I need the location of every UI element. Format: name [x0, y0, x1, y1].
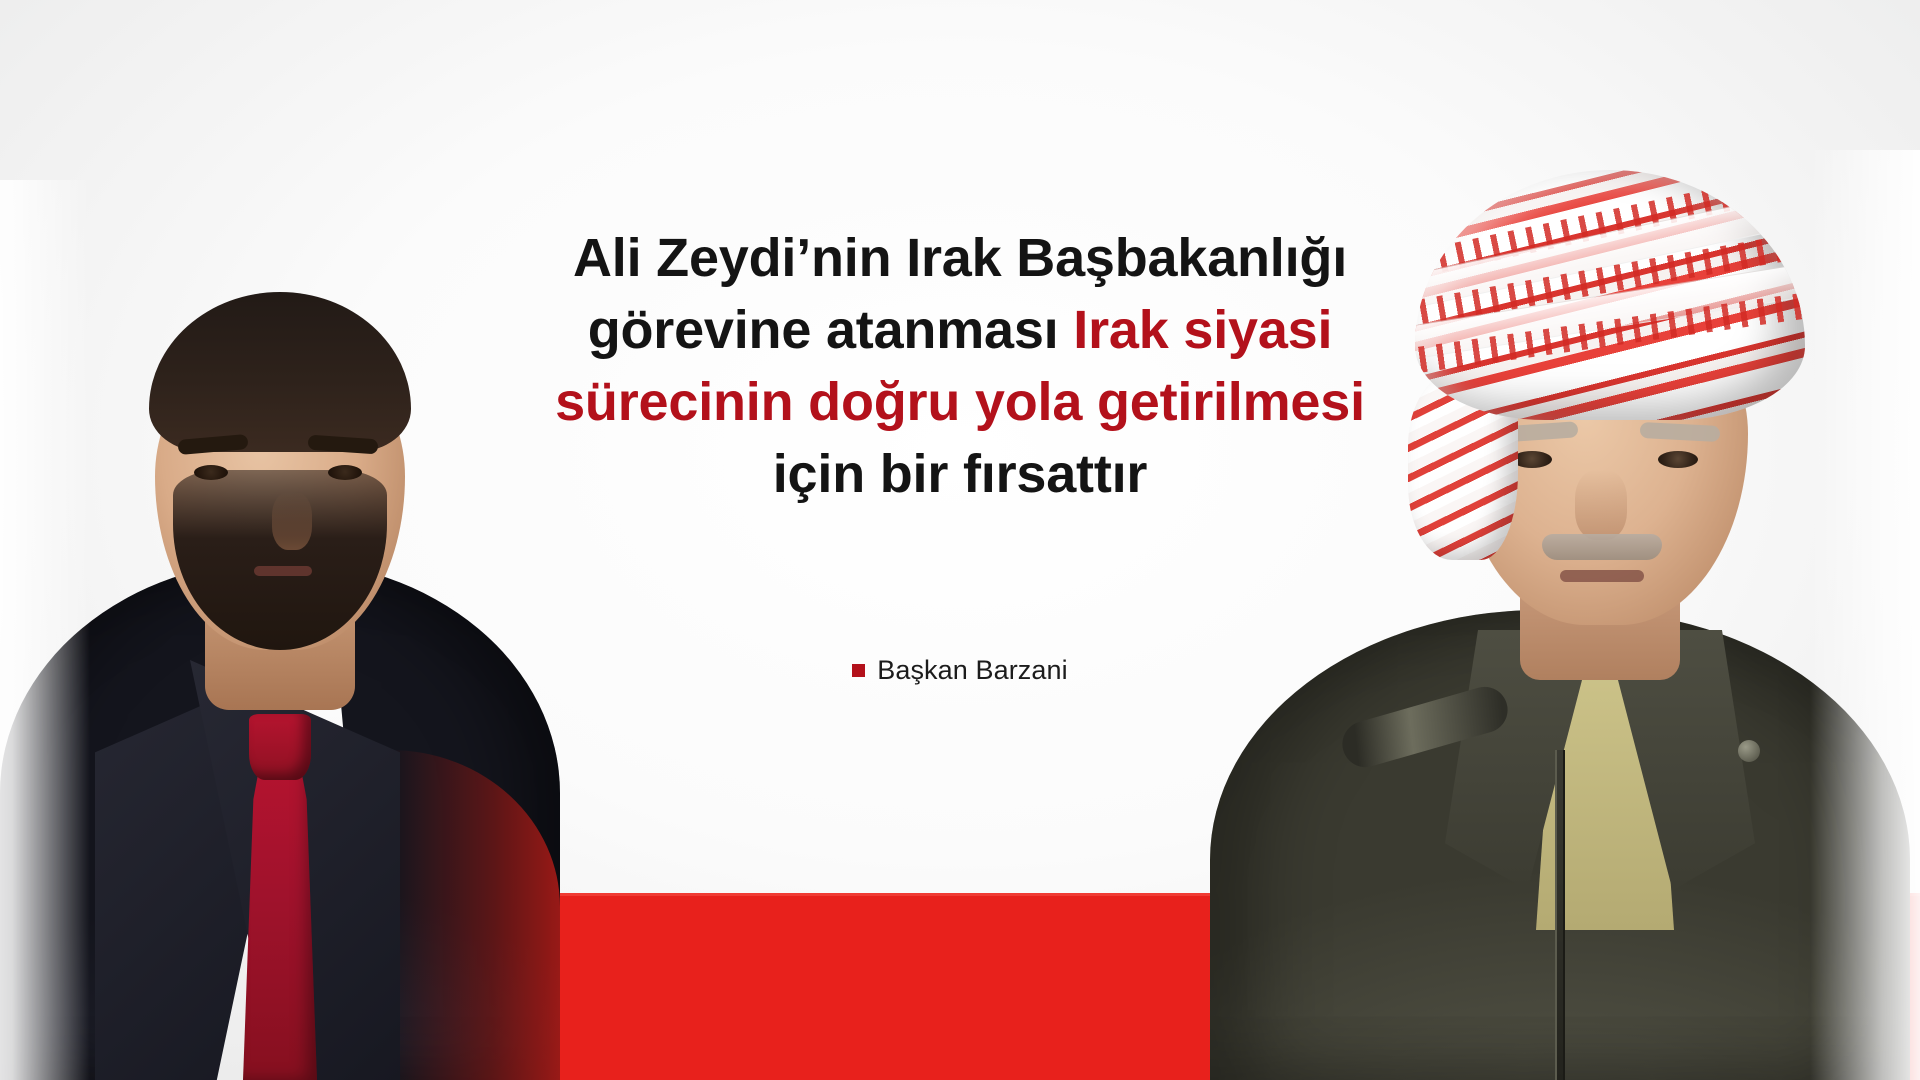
quote-line-2: görevine atanması Irak siyasi	[0, 294, 1920, 366]
right-person-mustache	[1542, 534, 1662, 560]
quote-line-3: sürecinin doğru yola getirilmesi	[0, 366, 1920, 438]
quote-line-3-highlight: sürecinin doğru yola getirilmesi	[555, 372, 1365, 432]
right-person-mouth	[1560, 570, 1644, 582]
right-person-zipper	[1555, 750, 1565, 1080]
square-bullet-icon	[852, 664, 865, 677]
quote-line-4-plain: için bir fırsattır	[773, 444, 1147, 504]
quote-line-2-plain: görevine atanması	[588, 300, 1074, 360]
attribution-inner: Başkan Barzani	[852, 655, 1068, 686]
quote-graphic-canvas: Ali Zeydi’nin Irak Başbakanlığı görevine…	[0, 0, 1920, 1080]
quote-line-1-plain: Ali Zeydi’nin Irak Başbakanlığı	[573, 228, 1347, 288]
quote-line-1: Ali Zeydi’nin Irak Başbakanlığı	[0, 222, 1920, 294]
attribution-block: Başkan Barzani	[0, 655, 1920, 686]
left-person-tie-knot	[249, 714, 311, 780]
quote-text-block: Ali Zeydi’nin Irak Başbakanlığı görevine…	[0, 222, 1920, 510]
quote-line-2-highlight: Irak siyasi	[1073, 300, 1332, 360]
attribution-name: Başkan Barzani	[877, 655, 1068, 686]
right-person-button	[1738, 740, 1760, 762]
quote-line-4: için bir fırsattır	[0, 438, 1920, 510]
left-person-mouth	[254, 566, 312, 576]
